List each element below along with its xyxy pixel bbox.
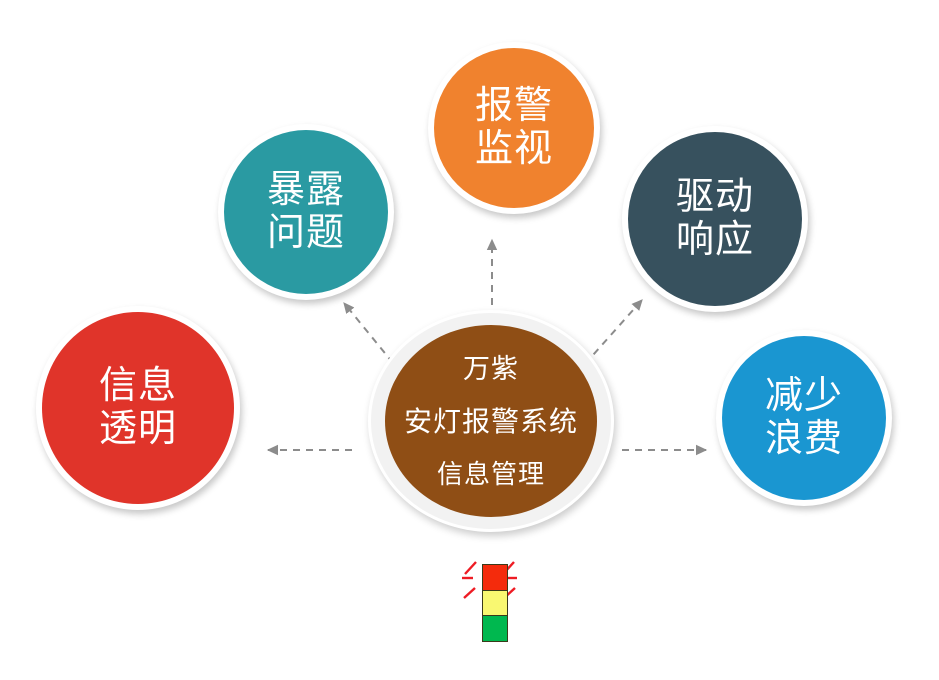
node-alarm-monitor[interactable]: 报警 监视	[428, 42, 600, 214]
node-expose-problem-fill: 暴露 问题	[224, 130, 388, 294]
andon-red-lamp	[482, 564, 508, 591]
andon-yellow-lamp	[482, 590, 508, 617]
andon-light-tower	[462, 556, 520, 652]
andon-tower-body	[482, 564, 508, 642]
node-information-transparency-fill: 信息 透明	[42, 312, 234, 504]
node-reduce-waste-fill: 减少 浪费	[722, 336, 886, 500]
node-alarm-monitor-label: 报警 监视	[475, 85, 553, 170]
center-node-line-2: 安灯报警系统	[404, 408, 578, 436]
diagram-canvas: 报警 监视 暴露 问题 驱动 响应 信息 透明 减少 浪费 万紫 安灯报警系统 …	[0, 0, 939, 680]
center-node[interactable]: 万紫 安灯报警系统 信息管理	[368, 310, 614, 532]
node-reduce-waste-label: 减少 浪费	[765, 375, 843, 460]
center-node-line-1: 万紫	[463, 356, 519, 383]
andon-green-lamp	[482, 615, 508, 642]
center-node-line-3: 信息管理	[437, 461, 545, 487]
connector-to-drive-response	[585, 300, 642, 364]
node-drive-response[interactable]: 驱动 响应	[622, 126, 808, 312]
node-reduce-waste[interactable]: 减少 浪费	[716, 330, 892, 506]
node-expose-problem[interactable]: 暴露 问题	[218, 124, 394, 300]
node-alarm-monitor-fill: 报警 监视	[434, 48, 594, 208]
connector-to-expose-problem	[344, 303, 393, 363]
node-information-transparency-label: 信息 透明	[99, 365, 177, 450]
node-drive-response-label: 驱动 响应	[676, 176, 754, 261]
node-drive-response-fill: 驱动 响应	[628, 132, 802, 306]
center-node-fill: 万紫 安灯报警系统 信息管理	[385, 325, 597, 517]
node-expose-problem-label: 暴露 问题	[267, 169, 345, 254]
node-information-transparency[interactable]: 信息 透明	[36, 306, 240, 510]
